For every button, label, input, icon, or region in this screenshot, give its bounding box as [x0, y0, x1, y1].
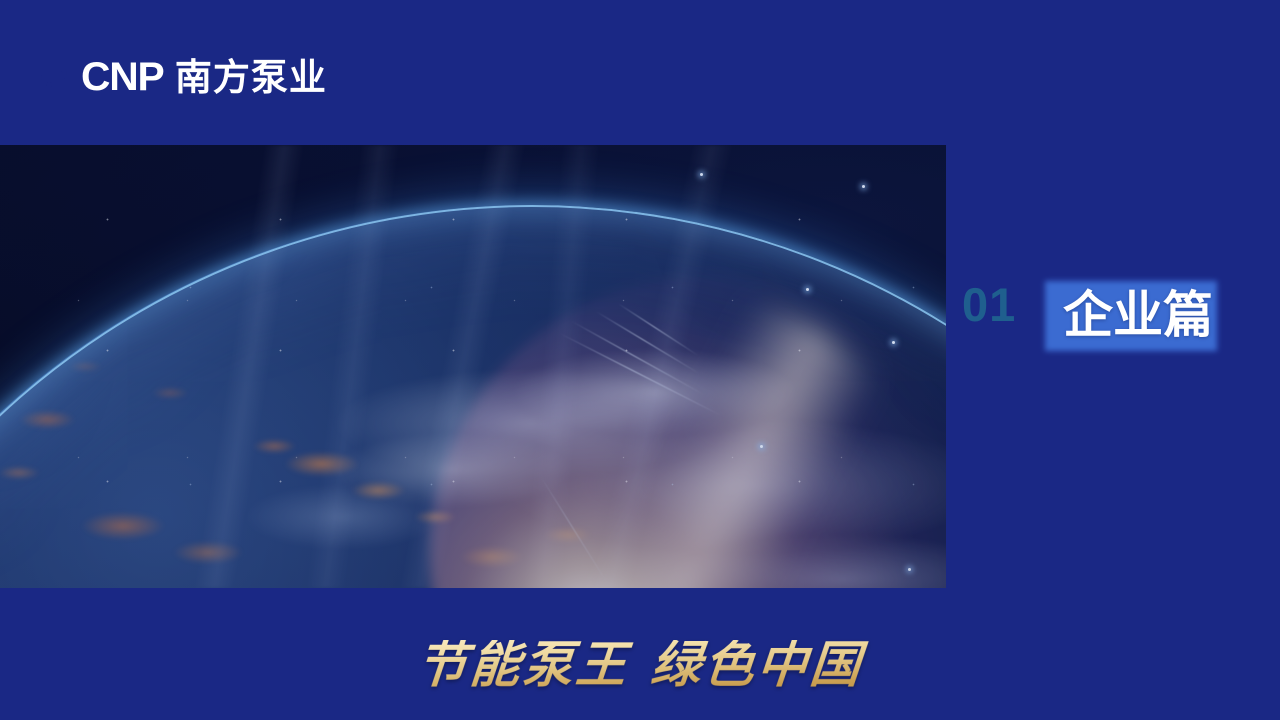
cnp-p-mark-icon [40, 60, 74, 94]
hero-earth-image [0, 145, 946, 588]
star-point [760, 445, 763, 448]
company-slogan: 节能泵王绿色中国 [0, 640, 1280, 690]
star-point [806, 288, 809, 291]
slogan-part-1: 节能泵王 [414, 635, 631, 694]
logo-chinese-text: 南方泵业 [175, 59, 327, 96]
section-title-area: 01 企业篇 [946, 145, 1280, 588]
section-number: 01 [962, 281, 1016, 328]
slogan-part-2: 绿色中国 [648, 635, 865, 694]
logo-latin-text: CNP [81, 57, 163, 97]
star-point [908, 568, 911, 571]
star-point [862, 185, 865, 188]
star-field [0, 145, 946, 588]
star-point [892, 341, 895, 344]
section-title: 企业篇 [1063, 282, 1213, 348]
star-point [700, 173, 703, 176]
section-title-wrap: 企业篇 [1063, 282, 1213, 348]
brand-logo: CNP 南方泵业 [40, 54, 327, 100]
header-band: CNP 南方泵业 [0, 0, 1280, 145]
presentation-slide: CNP 南方泵业 01 企业篇 [0, 0, 1280, 720]
